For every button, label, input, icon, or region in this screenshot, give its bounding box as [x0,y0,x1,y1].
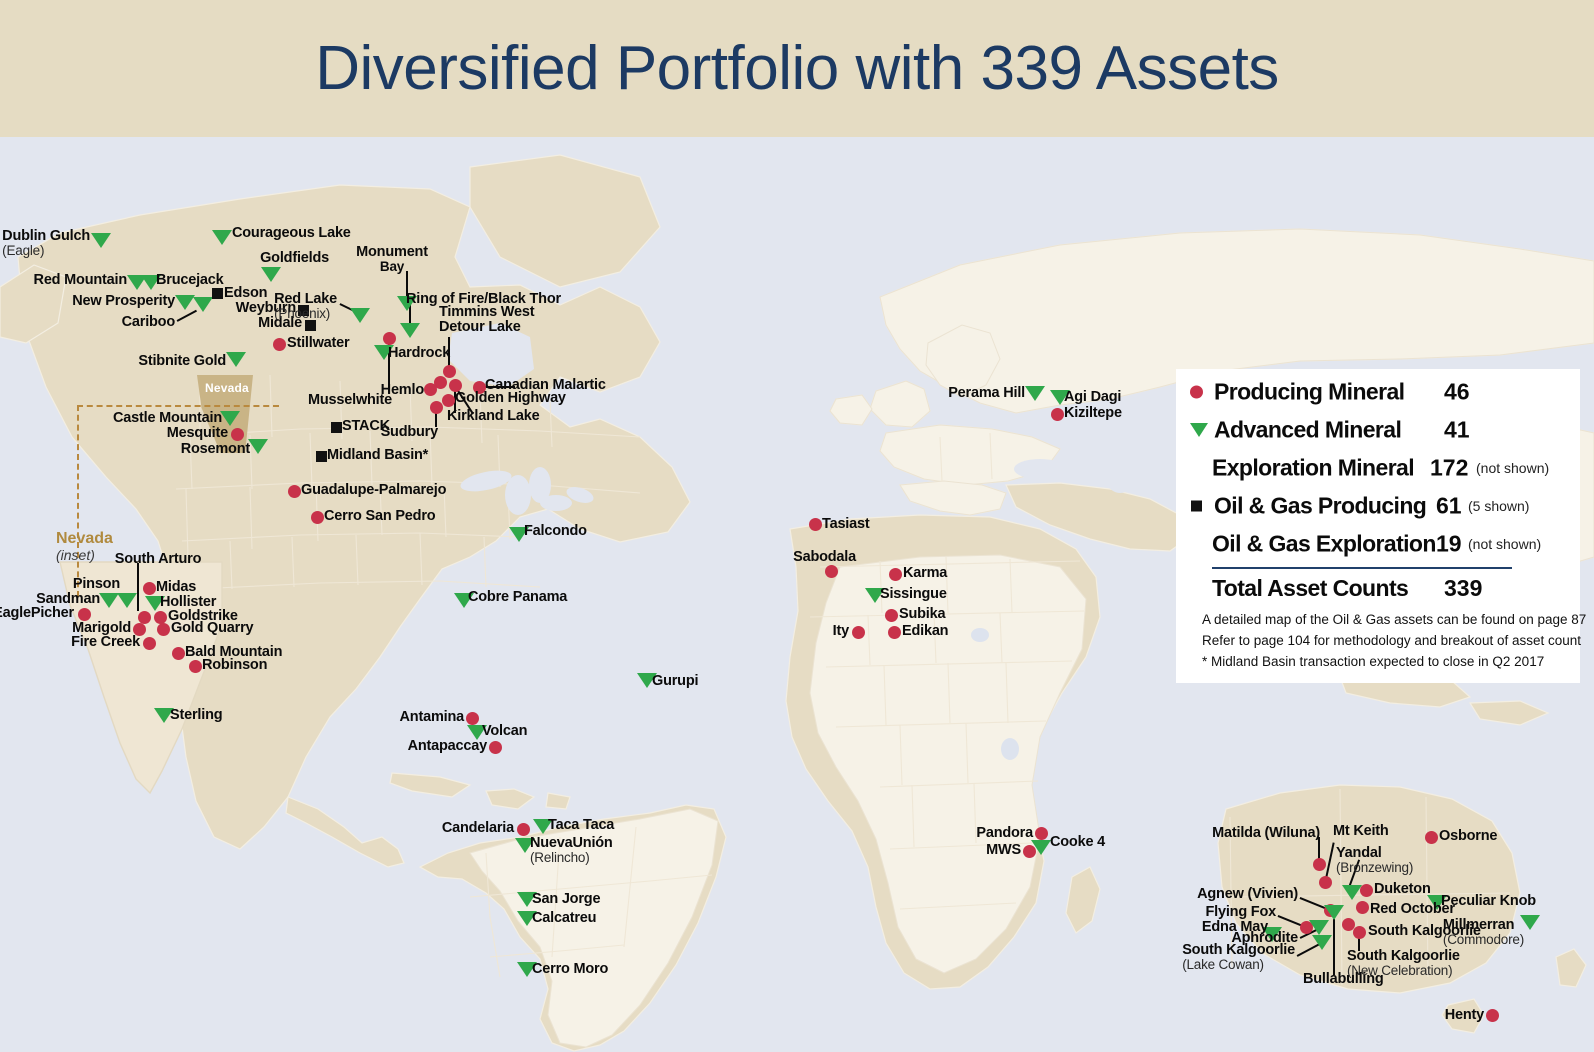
label-monument-bay: MonumentBay [356,245,428,275]
label-agnew: Agnew (Vivien) [1197,887,1298,903]
label-tasiast: Tasiast [822,517,870,533]
label-sterling: Sterling [170,708,222,724]
label-goldfields: Goldfields [260,251,329,267]
label-calcatreu: Calcatreu [532,911,596,927]
label-subika: Subika [899,607,945,623]
label-sissingue: Sissingue [880,587,947,603]
label-antamina: Antamina [400,710,464,726]
legend-label-exploration-mineral: Exploration Mineral [1212,455,1414,482]
label-red-mountain: Red Mountain [34,273,127,289]
label-millmerran: Millmerran(Commodore) [1443,918,1524,948]
label-new-prosperity: New Prosperity [72,294,175,310]
legend-count-total: 339 [1444,572,1482,604]
marker-producing-karma[interactable] [889,568,902,581]
label-gold-quarry: Gold Quarry [171,621,253,637]
legend-row-producing-mineral: Producing Mineral 46 [1176,375,1580,409]
label-mws: MWS [986,843,1021,859]
label-cooke-4: Cooke 4 [1050,835,1105,851]
nevada-inset-caption: Nevada (inset) [56,530,113,563]
marker-producing-tasiast[interactable] [809,518,822,531]
label-sabodala: Sabodala [793,550,856,566]
label-bullabulling: Bullabulling [1303,972,1384,988]
legend-row-oil-gas-producing: Oil & Gas Producing 61 (5 shown) [1176,489,1580,523]
legend-row-oil-gas-exploration: Oil & Gas Exploration 19 (not shown) [1176,527,1580,561]
marker-producing-mesquite[interactable] [231,428,244,441]
legend-count-producing-mineral: 46 [1444,379,1470,406]
label-kirkland-lake: Kirkland Lake [447,409,540,425]
label-san-jorge: San Jorge [532,892,600,908]
marker-oilgas-midland-basin[interactable] [316,451,327,462]
marker-advanced-sandman[interactable] [99,593,119,608]
legend-count-oil-gas-producing: 61 [1436,493,1462,520]
marker-producing-guadalupe-palmarejo[interactable] [288,485,301,498]
label-rosemont: Rosemont [181,442,250,458]
leader-south-arturo [137,563,139,611]
label-osborne: Osborne [1439,829,1497,845]
marker-advanced-south-kalgoorlie-lake-cowan[interactable] [1312,935,1332,950]
marker-advanced-castle-mountain[interactable] [220,411,240,426]
legend-row-advanced-mineral: Advanced Mineral 41 [1176,413,1580,447]
marker-producing-kiziltepe[interactable] [1051,408,1064,421]
label-cerro-san-pedro: Cerro San Pedro [324,509,435,525]
label-henty: Henty [1445,1008,1484,1024]
marker-producing-duketon[interactable] [1360,884,1373,897]
triangle-marker-icon [1190,423,1208,437]
legend-footnote-3: * Midland Basin transaction expected to … [1202,654,1544,669]
marker-advanced-aphrodite[interactable] [1309,920,1329,935]
label-peculiar-knob: Peculiar Knob [1441,894,1536,910]
legend-label-producing-mineral: Producing Mineral [1214,379,1404,406]
nevada-inset-name: Nevada [56,530,113,547]
label-detour-lake: Detour Lake [439,320,521,336]
label-pandora: Pandora [976,826,1033,842]
legend-label-total: Total Asset Counts [1212,572,1408,604]
marker-producing-hemlo[interactable] [424,383,437,396]
label-courageous-lake: Courageous Lake [232,226,351,242]
marker-producing-ity[interactable] [852,626,865,639]
label-eaglepicher: EaglePicher [0,606,74,622]
marker-producing-golden-highway[interactable] [442,394,455,407]
slide-root: Diversified Portfolio with 339 Assets [0,0,1594,1052]
marker-producing-detour-lake[interactable] [443,365,456,378]
label-hardrock: Hardrock [388,346,450,362]
label-robinson: Robinson [202,658,267,674]
legend-note-oil-gas-producing: (5 shown) [1468,498,1529,514]
label-golden-highway: Golden Highway [455,391,566,407]
marker-advanced-rosemont[interactable] [248,439,268,454]
legend-divider [1212,567,1512,569]
label-red-lake: Red Lake(Phoenix) [274,292,337,322]
label-gurupi: Gurupi [652,674,698,690]
marker-producing-robinson[interactable] [189,660,202,673]
label-kiziltepe: Kiziltepe [1064,406,1122,422]
marker-advanced-ring-of-fire[interactable] [400,323,420,338]
label-guadalupe-palmarejo: Guadalupe-Palmarejo [301,483,446,499]
marker-producing-stillwater[interactable] [273,338,286,351]
label-south-arturo: South Arturo [115,552,201,568]
label-candelaria: Candelaria [442,821,514,837]
label-musselwhite: Musselwhite [308,393,392,409]
label-cobre-panama: Cobre Panama [468,590,567,606]
marker-advanced-new-prosperity[interactable] [175,295,195,310]
legend-row-exploration-mineral: Exploration Mineral 172 (not shown) [1176,451,1580,485]
marker-producing-bald-mountain[interactable] [172,647,185,660]
marker-producing-eaglepicher[interactable] [78,608,91,621]
legend-note-oil-gas-exploration: (not shown) [1468,536,1541,552]
label-stillwater: Stillwater [287,336,349,352]
label-matilda: Matilda (Wiluna) [1212,826,1320,842]
label-dublin-gulch: Dublin Gulch(Eagle) [2,229,90,259]
marker-oilgas-stack[interactable] [331,422,342,433]
marker-producing-antapaccay[interactable] [489,741,502,754]
label-ity: Ity [833,624,849,640]
header-bar: Diversified Portfolio with 339 Assets [0,0,1594,137]
world-map: Nevada Nevada (inset) Dublin Gulch(Eagle… [0,137,1594,1052]
label-south-kalgoorlie-lake-cowan: South Kalgoorlie(Lake Cowan) [1182,943,1295,973]
marker-producing-sabodala[interactable] [825,565,838,578]
label-karma: Karma [903,566,947,582]
legend-label-oil-gas-producing: Oil & Gas Producing [1214,493,1426,520]
label-mt-keith: Mt Keith [1333,824,1389,840]
marker-advanced-yandal[interactable] [1342,885,1362,900]
marker-advanced-courageous-lake[interactable] [212,230,232,245]
label-stack: STACK [342,419,390,435]
label-yandal: Yandal(Bronzewing) [1336,846,1413,876]
legend-panel: Producing Mineral 46 Advanced Mineral 41… [1176,369,1580,683]
label-falcondo: Falcondo [524,524,587,540]
legend-label-oil-gas-exploration: Oil & Gas Exploration [1212,531,1436,558]
marker-producing-red-october[interactable] [1356,901,1369,914]
label-stibnite-gold: Stibnite Gold [138,354,226,370]
marker-producing-mws[interactable] [1023,845,1036,858]
marker-producing-mt-keith[interactable] [1319,876,1332,889]
legend-footnote-1: A detailed map of the Oil & Gas assets c… [1202,612,1586,627]
label-mesquite: Mesquite [167,426,228,442]
marker-advanced-pinson[interactable] [117,593,137,608]
nevada-state-label: Nevada [205,381,249,395]
nevada-inset-sub: (inset) [56,548,113,563]
marker-producing-matilda[interactable] [1313,858,1326,871]
marker-advanced-red-lake[interactable] [350,308,370,323]
marker-producing-pandora[interactable] [1035,827,1048,840]
marker-advanced-bullabulling[interactable] [1324,905,1344,920]
marker-producing-osborne[interactable] [1425,831,1438,844]
label-cerro-moro: Cerro Moro [532,962,608,978]
marker-producing-fire-creek[interactable] [143,637,156,650]
label-edikan: Edikan [902,624,948,640]
label-nuevaunion: NuevaUnión(Relincho) [530,836,613,866]
legend-count-oil-gas-exploration: 19 [1436,531,1462,558]
legend-footnote-2: Refer to page 104 for methodology and br… [1202,633,1581,648]
marker-producing-edikan[interactable] [888,626,901,639]
legend-count-exploration-mineral: 172 [1430,455,1468,482]
marker-producing-south-arturo[interactable] [138,611,151,624]
label-taca-taca: Taca Taca [548,818,614,834]
label-fire-creek: Fire Creek [71,635,140,651]
label-duketon: Duketon [1374,882,1431,898]
marker-oilgas-edson[interactable] [212,288,223,299]
marker-advanced-cariboo[interactable] [193,297,213,312]
legend-note-exploration-mineral: (not shown) [1476,460,1549,476]
leader-bullabulling [1333,919,1335,975]
marker-advanced-perama-hill[interactable] [1025,386,1045,401]
marker-producing-midas[interactable] [143,582,156,595]
label-cariboo: Cariboo [122,315,175,331]
marker-producing-sudbury[interactable] [430,401,443,414]
legend-count-advanced-mineral: 41 [1444,417,1470,444]
marker-producing-antamina[interactable] [466,712,479,725]
marker-producing-musselwhite[interactable] [383,332,396,345]
label-perama-hill: Perama Hill [948,386,1025,402]
marker-producing-candelaria[interactable] [517,823,530,836]
label-volcan: Volcan [482,724,527,740]
marker-producing-henty[interactable] [1486,1009,1499,1022]
marker-advanced-dublin-gulch[interactable] [91,233,111,248]
label-pinson: Pinson [73,577,120,593]
label-hemlo: Hemlo [381,383,424,399]
marker-producing-cerro-san-pedro[interactable] [311,511,324,524]
label-brucejack: Brucejack [156,273,224,289]
marker-producing-subika[interactable] [885,609,898,622]
label-midland-basin: Midland Basin* [327,448,428,464]
page-title: Diversified Portfolio with 339 Assets [315,33,1279,104]
label-agi-dagi: Agi Dagi [1064,390,1121,406]
marker-producing-goldstrike[interactable] [154,611,167,624]
circle-marker-icon [1190,386,1203,399]
marker-producing-south-kalgoorlie-new-celebration[interactable] [1353,926,1366,939]
square-marker-icon [1191,501,1202,512]
marker-advanced-stibnite-gold[interactable] [226,352,246,367]
label-antapaccay: Antapaccay [408,739,487,755]
marker-advanced-goldfields[interactable] [261,267,281,282]
legend-label-advanced-mineral: Advanced Mineral [1214,417,1401,444]
